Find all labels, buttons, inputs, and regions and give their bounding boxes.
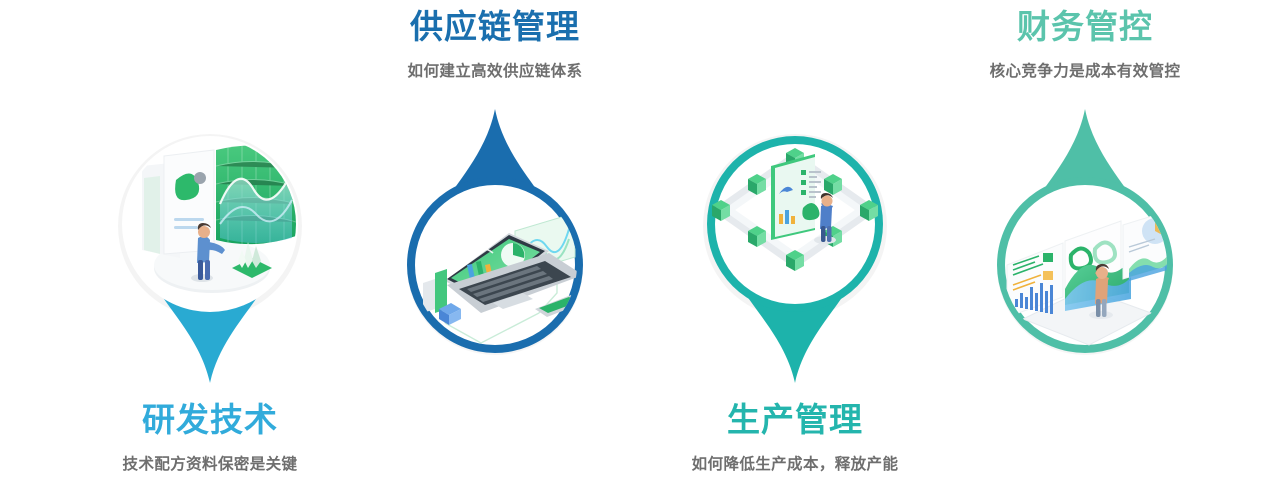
text-block-supply-chain: 供应链管理 如何建立高效供应链体系 [345, 8, 645, 81]
item-title: 生产管理 [635, 401, 955, 440]
text-block-rd-technology: 研发技术 技术配方资料保密是关键 [60, 401, 360, 474]
item-subtitle: 核心竞争力是成本有效管控 [930, 59, 1240, 81]
item-title: 财务管控 [930, 8, 1240, 47]
capability-item-supply-chain[interactable]: 供应链管理 如何建立高效供应链体系 [345, 0, 645, 488]
item-subtitle: 技术配方资料保密是关键 [60, 452, 360, 474]
pin-marker-financial-control [979, 113, 1191, 371]
infographic-canvas: 研发技术 技术配方资料保密是关键 供应链管理 如何建立高效供应链体系 [0, 0, 1263, 488]
pin-marker-production-management [689, 118, 901, 383]
item-title: 供应链管理 [345, 8, 645, 47]
item-title: 研发技术 [60, 401, 360, 440]
text-block-production-management: 生产管理 如何降低生产成本，释放产能 [635, 401, 955, 474]
capability-item-rd-technology[interactable]: 研发技术 技术配方资料保密是关键 [60, 0, 360, 488]
capability-item-production-management[interactable]: 生产管理 如何降低生产成本，释放产能 [635, 0, 955, 488]
pin-marker-rd-technology [104, 118, 316, 383]
text-block-financial-control: 财务管控 核心竞争力是成本有效管控 [930, 8, 1240, 81]
pin-marker-supply-chain [389, 113, 601, 371]
item-subtitle: 如何建立高效供应链体系 [345, 59, 645, 81]
item-subtitle: 如何降低生产成本，释放产能 [635, 452, 955, 474]
capability-item-financial-control[interactable]: 财务管控 核心竞争力是成本有效管控 [930, 0, 1240, 488]
